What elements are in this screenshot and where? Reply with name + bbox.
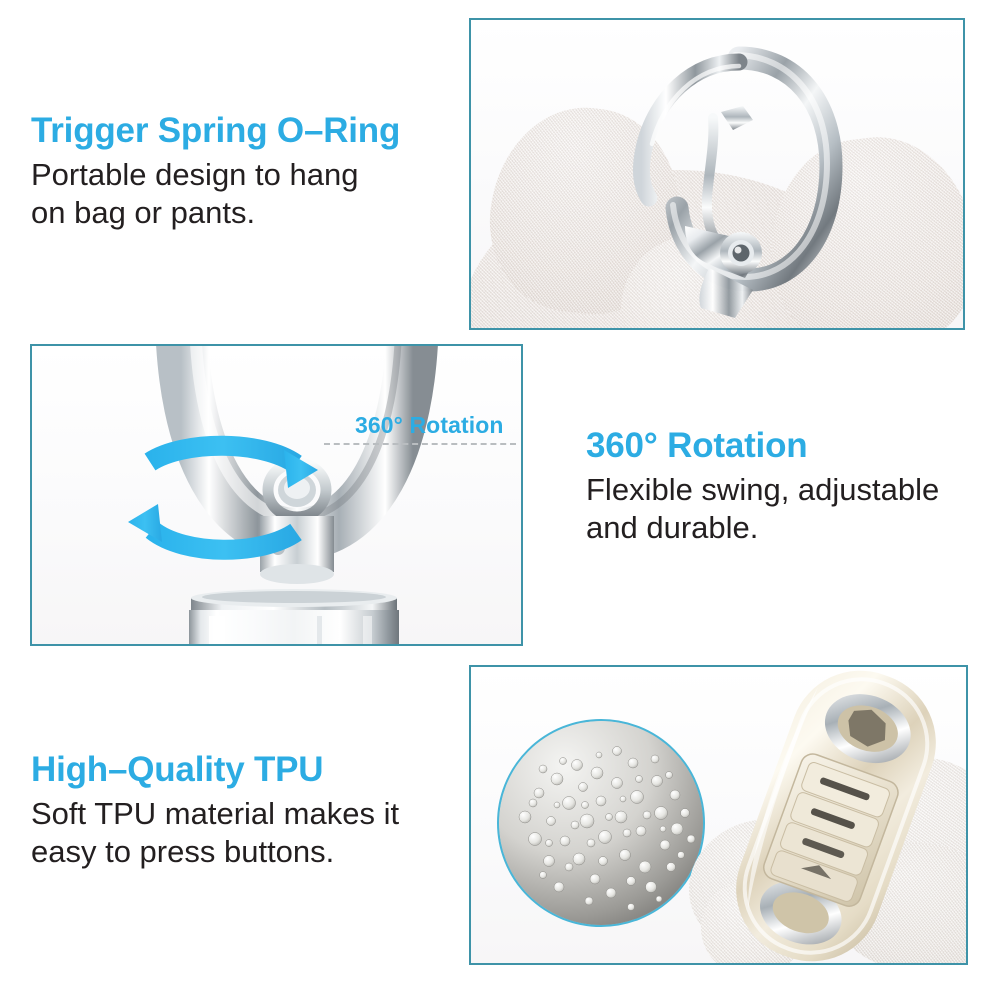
feature-heading-high-quality-tpu: High–Quality TPU	[31, 752, 399, 789]
feature-body-trigger-spring-o-ring: Portable design to hang on bag or pants.	[31, 156, 400, 233]
feature-text-high-quality-tpu: High–Quality TPU Soft TPU material makes…	[31, 752, 399, 872]
infographic-canvas: Trigger Spring O–Ring Portable design to…	[0, 0, 1000, 1000]
feature-body-360-rotation: Flexible swing, adjustable and durable.	[586, 471, 939, 548]
feature-heading-360-rotation: 360° Rotation	[586, 428, 939, 465]
feature-body-line: easy to press buttons.	[31, 833, 399, 871]
feature-body-high-quality-tpu: Soft TPU material makes it easy to press…	[31, 795, 399, 872]
rotation-leader-dashed-line	[324, 443, 516, 445]
feature-body-line: on bag or pants.	[31, 194, 400, 232]
rotation-annotation-label: 360° Rotation	[355, 412, 504, 439]
photo-panel-tpu-pellets-and-gloved-hand-with-key-fob-case	[469, 665, 968, 965]
feature-body-line: and durable.	[586, 509, 939, 547]
feature-heading-trigger-spring-o-ring: Trigger Spring O–Ring	[31, 113, 400, 150]
feature-text-trigger-spring-o-ring: Trigger Spring O–Ring Portable design to…	[31, 113, 400, 233]
circular-rotation-arrow	[50, 408, 380, 598]
photo-panel-gloved-hand-holding-chrome-trigger-spring-carabiner	[469, 18, 965, 330]
tpu-pellet-sample-circle	[497, 719, 705, 927]
feature-body-line: Flexible swing, adjustable	[586, 471, 939, 509]
key-fob-in-tpu-case	[701, 665, 968, 965]
feature-body-line: Soft TPU material makes it	[31, 795, 399, 833]
feature-text-360-rotation: 360° Rotation Flexible swing, adjustable…	[586, 428, 939, 548]
feature-body-line: Portable design to hang	[31, 156, 400, 194]
tpu-pellets-texture	[499, 721, 703, 925]
photo-panel-chrome-swivel-joint-closeup: 360° Rotation	[30, 344, 523, 646]
chrome-trigger-spring-carabiner	[589, 40, 889, 330]
